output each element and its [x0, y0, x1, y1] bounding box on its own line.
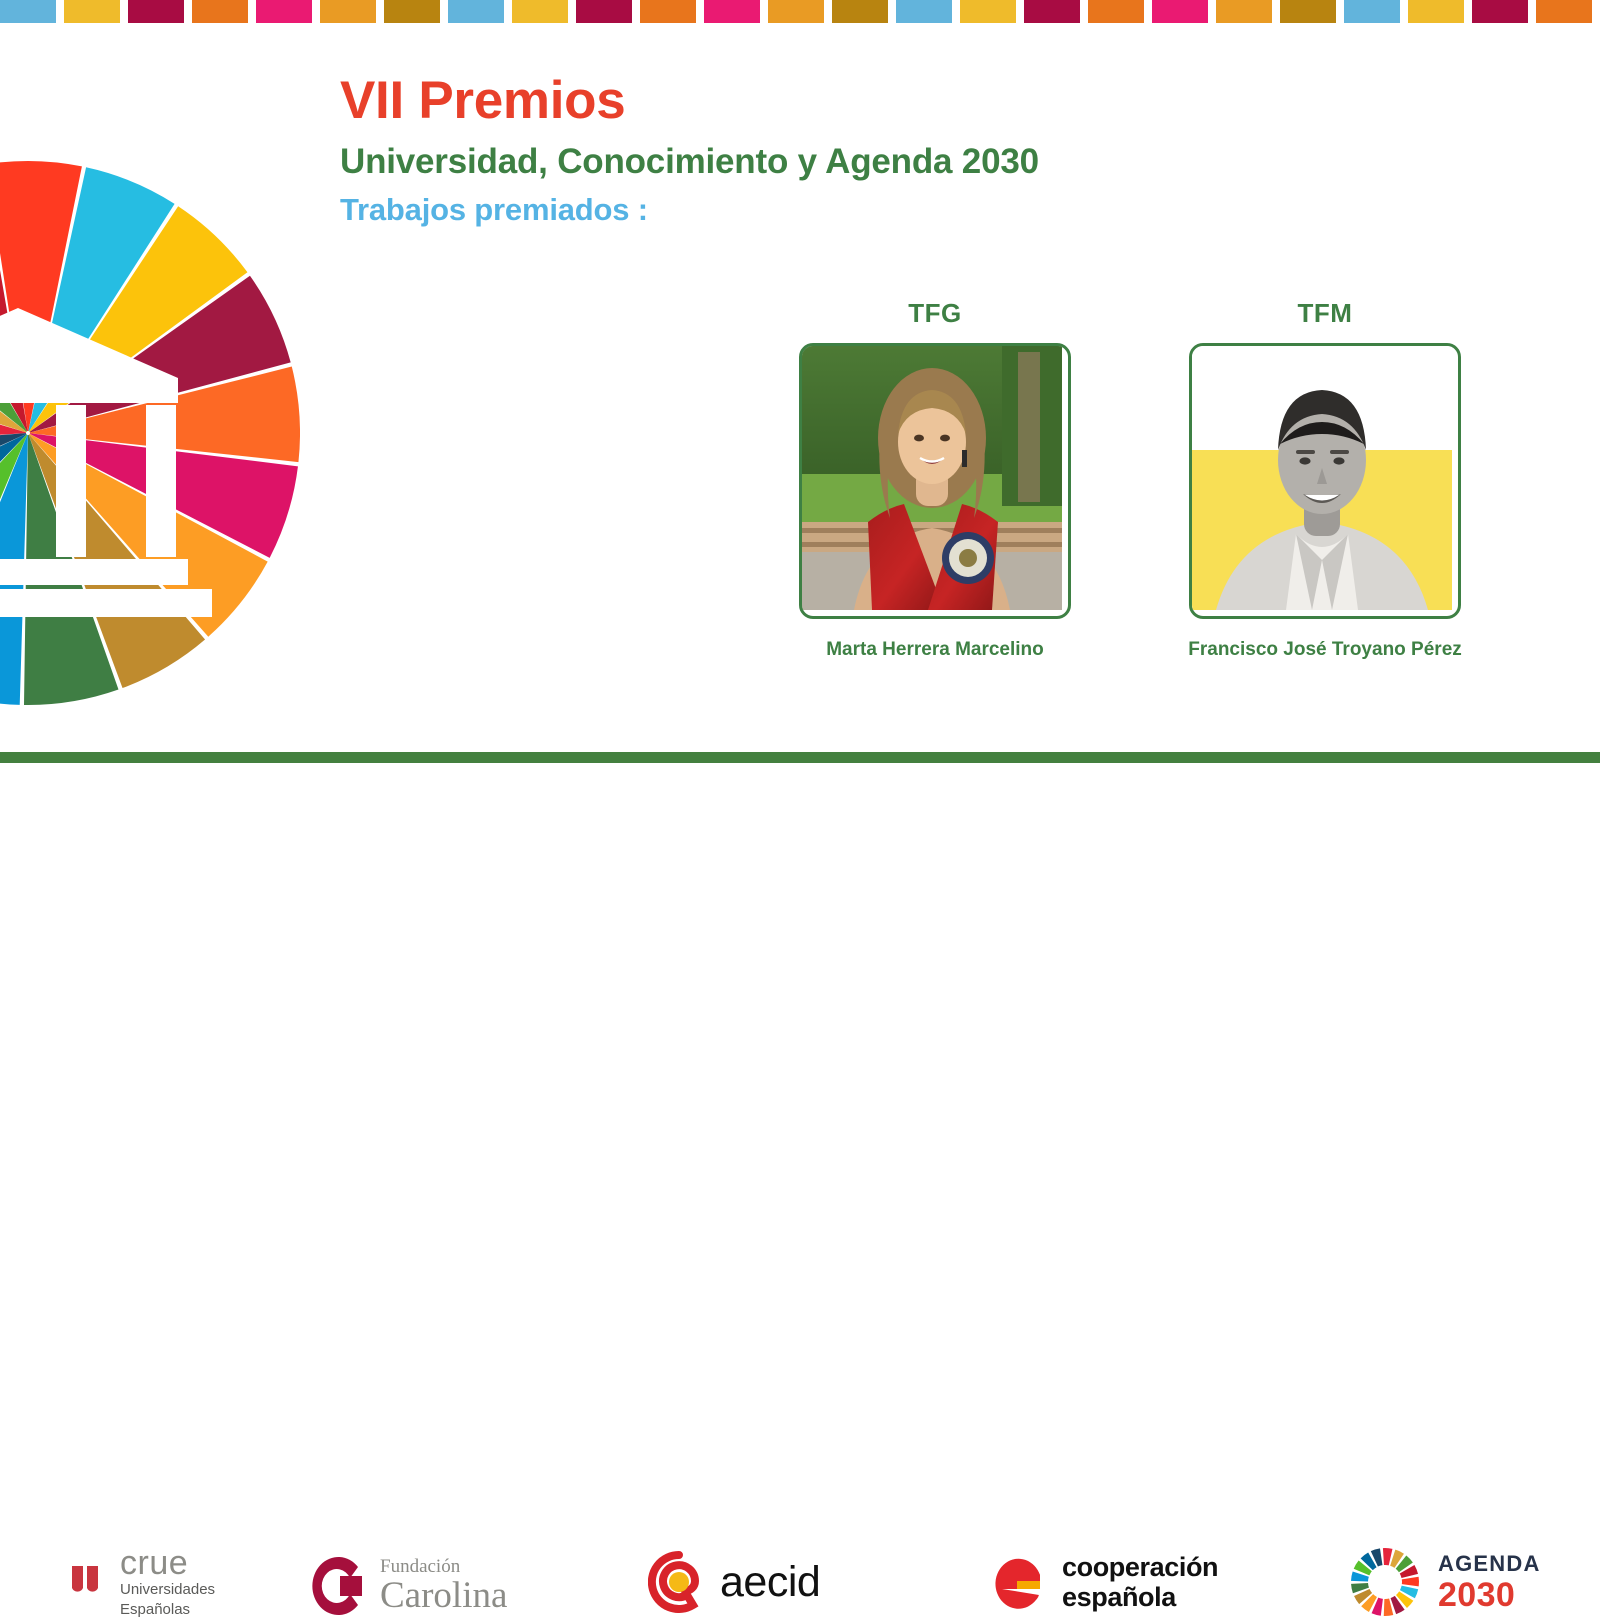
green-divider-bar: [0, 752, 1600, 763]
footer-logo-bar: crue Universidades Españolas Fundación C…: [0, 763, 1600, 900]
award-card-tfg: TFG: [800, 298, 1070, 661]
carolina-wordmark-top: Fundación: [380, 1557, 507, 1576]
color-square-15: [960, 0, 1016, 23]
color-square-14: [896, 0, 952, 23]
color-square-19: [1216, 0, 1272, 23]
section-label: Trabajos premiados :: [340, 194, 1240, 227]
heading-block: VII Premios Universidad, Conocimiento y …: [340, 74, 1240, 226]
color-square-5: [320, 0, 376, 23]
crue-tagline-line1: Universidades: [120, 1582, 215, 1599]
aecid-mark-icon: [648, 1551, 710, 1613]
sdg-segment-5: [1402, 1577, 1419, 1587]
sdg-wheel-university-logo: [0, 160, 300, 706]
color-square-13: [832, 0, 888, 23]
color-square-10: [640, 0, 696, 23]
cooperacion-espanola-logo: cooperación española: [988, 1551, 1218, 1613]
crue-mark-icon: [68, 1562, 110, 1604]
color-square-11: [704, 0, 760, 23]
award-card-tfm: TFM: [1190, 298, 1460, 661]
winner-photo-tfm: [1189, 343, 1461, 619]
aecid-logo: aecid: [648, 1551, 820, 1613]
page-subtitle: Universidad, Conocimiento y Agenda 2030: [340, 144, 1240, 181]
decorative-color-strip: [0, 0, 1600, 26]
agenda-2030-logo: AGENDA 2030: [1348, 1545, 1541, 1619]
cooperacion-e-mark-icon: [988, 1551, 1046, 1613]
award-category-tfm: TFM: [1298, 298, 1353, 329]
award-winner-name-tfm: Francisco José Troyano Pérez: [1188, 639, 1462, 661]
color-square-4: [256, 0, 312, 23]
agenda-wordmark: AGENDA: [1438, 1553, 1541, 1575]
color-square-7: [448, 0, 504, 23]
color-square-1: [64, 0, 120, 23]
color-square-3: [192, 0, 248, 23]
carolina-c-mark-icon: [310, 1550, 366, 1622]
color-square-0: [0, 0, 56, 23]
color-square-16: [1024, 0, 1080, 23]
fundacion-carolina-logo: Fundación Carolina: [310, 1550, 507, 1622]
color-square-8: [512, 0, 568, 23]
color-square-6: [384, 0, 440, 23]
award-category-tfg: TFG: [908, 298, 962, 329]
sdg-wheel-icon: [1348, 1545, 1422, 1619]
aecid-wordmark: aecid: [720, 1561, 820, 1604]
crue-wordmark: crue: [120, 1548, 215, 1579]
sdg-segment-1: [1383, 1548, 1393, 1565]
color-square-17: [1088, 0, 1144, 23]
color-square-9: [576, 0, 632, 23]
color-square-12: [768, 0, 824, 23]
cooperacion-wordmark-line2: española: [1062, 1582, 1218, 1612]
color-square-23: [1472, 0, 1528, 23]
award-winner-name-tfg: Marta Herrera Marcelino: [826, 639, 1044, 661]
page-title: VII Premios: [340, 74, 1240, 128]
agenda-year: 2030: [1438, 1578, 1541, 1612]
color-square-2: [128, 0, 184, 23]
crue-logo: crue Universidades Españolas: [68, 1548, 215, 1619]
crue-tagline-line2: Españolas: [120, 1602, 215, 1619]
carolina-wordmark-main: Carolina: [380, 1577, 507, 1615]
color-square-18: [1152, 0, 1208, 23]
awards-row: TFG: [800, 298, 1470, 661]
color-square-24: [1536, 0, 1592, 23]
color-square-22: [1408, 0, 1464, 23]
cooperacion-wordmark-line1: cooperación: [1062, 1552, 1218, 1582]
color-square-20: [1280, 0, 1336, 23]
winner-photo-tfg: [799, 343, 1071, 619]
color-square-21: [1344, 0, 1400, 23]
